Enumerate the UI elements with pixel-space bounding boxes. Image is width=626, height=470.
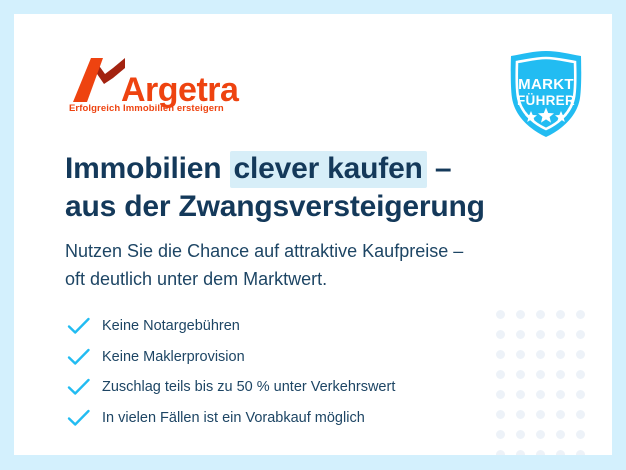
decorative-dot [556,450,565,455]
check-icon [67,408,91,428]
check-icon [67,316,91,336]
logo-tagline: Erfolgreich Immobilien ersteigern [69,103,224,114]
subheading-line-1: Nutzen Sie die Chance auf attraktive Kau… [65,238,565,266]
decorative-dot [536,330,545,339]
decorative-dot [576,390,585,399]
decorative-dot [576,370,585,379]
headline-text-pre: Immobilien [65,152,230,185]
market-leader-badge: MARKT FÜHRER [501,49,591,139]
check-icon [67,347,91,367]
page-title: Immobilien clever kaufen – aus der Zwang… [65,150,545,225]
decorative-dot [496,450,505,455]
decorative-dot [536,370,545,379]
decorative-dot [516,450,525,455]
benefits-list: Keine NotargebührenKeine Maklerprovision… [67,311,537,433]
decorative-dot [556,350,565,359]
headline-line-2: aus der Zwangsversteigerung [65,188,545,226]
decorative-dot [556,330,565,339]
headline-highlight: clever kaufen [230,151,427,188]
decorative-dot [576,430,585,439]
decorative-dot [536,390,545,399]
benefit-label: Zuschlag teils bis zu 50 % unter Verkehr… [102,379,395,395]
decorative-dot [576,310,585,319]
argetra-logo[interactable]: Argetra Erfolgreich Immobilien ersteiger… [69,56,249,118]
benefit-label: Keine Notargebühren [102,318,240,334]
decorative-dot [556,390,565,399]
decorative-dot [556,370,565,379]
content-card: Argetra Erfolgreich Immobilien ersteiger… [14,14,612,455]
benefit-item: In vielen Fällen ist ein Vorabkauf mögli… [67,403,537,434]
decorative-dot [536,410,545,419]
benefit-item: Keine Notargebühren [67,311,537,342]
subheading: Nutzen Sie die Chance auf attraktive Kau… [65,238,565,294]
badge-line2: FÜHRER [517,93,575,108]
decorative-dot [556,310,565,319]
decorative-dot [576,450,585,455]
decorative-dot [556,430,565,439]
decorative-dot [536,310,545,319]
benefit-label: In vielen Fällen ist ein Vorabkauf mögli… [102,410,365,426]
benefit-label: Keine Maklerprovision [102,349,245,365]
decorative-dot [556,410,565,419]
badge-line1: MARKT [518,76,574,93]
benefit-item: Keine Maklerprovision [67,342,537,373]
decorative-dot [536,430,545,439]
decorative-dot [536,450,545,455]
decorative-dot [536,350,545,359]
benefit-item: Zuschlag teils bis zu 50 % unter Verkehr… [67,372,537,403]
headline-line-1: Immobilien clever kaufen – [65,150,545,188]
logo-wordmark: Argetra [121,73,238,107]
decorative-dot [576,350,585,359]
check-icon [67,377,91,397]
headline-text-post: – [427,152,452,185]
promo-banner: Argetra Erfolgreich Immobilien ersteiger… [0,0,626,470]
decorative-dot [576,330,585,339]
decorative-dot [576,410,585,419]
subheading-line-2: oft deutlich unter dem Marktwert. [65,266,565,294]
